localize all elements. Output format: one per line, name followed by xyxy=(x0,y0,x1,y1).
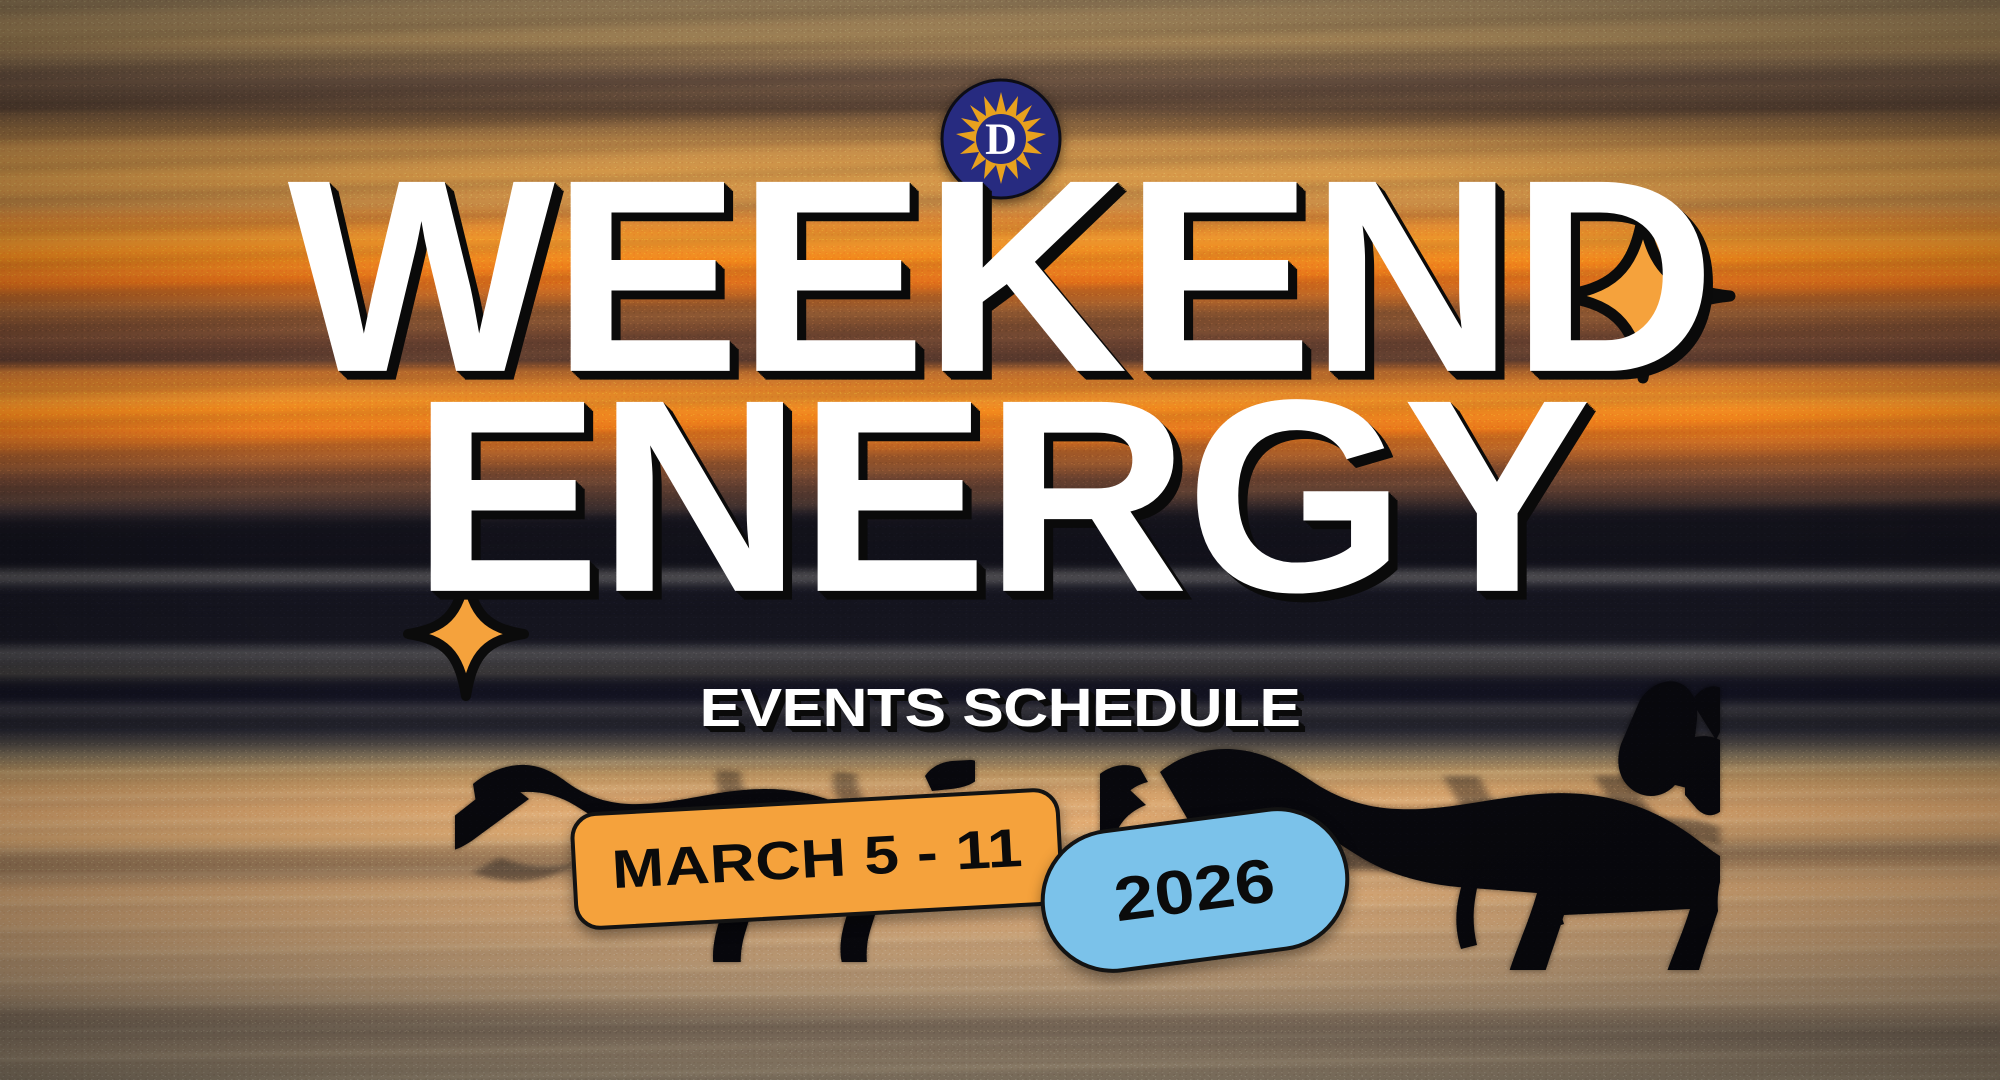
subtitle-events-schedule: EVENTS SCHEDULE xyxy=(0,678,2000,740)
year-label: 2026 xyxy=(1110,844,1279,935)
headline-line-2: ENERGY xyxy=(0,388,2000,608)
weekend-energy-poster: D WEEKEND ENERGY EVENTS SCHEDULE MARCH 5… xyxy=(0,0,2000,1080)
headline-block: WEEKEND ENERGY xyxy=(0,168,2000,563)
date-range-label: MARCH 5 - 11 xyxy=(610,817,1024,901)
